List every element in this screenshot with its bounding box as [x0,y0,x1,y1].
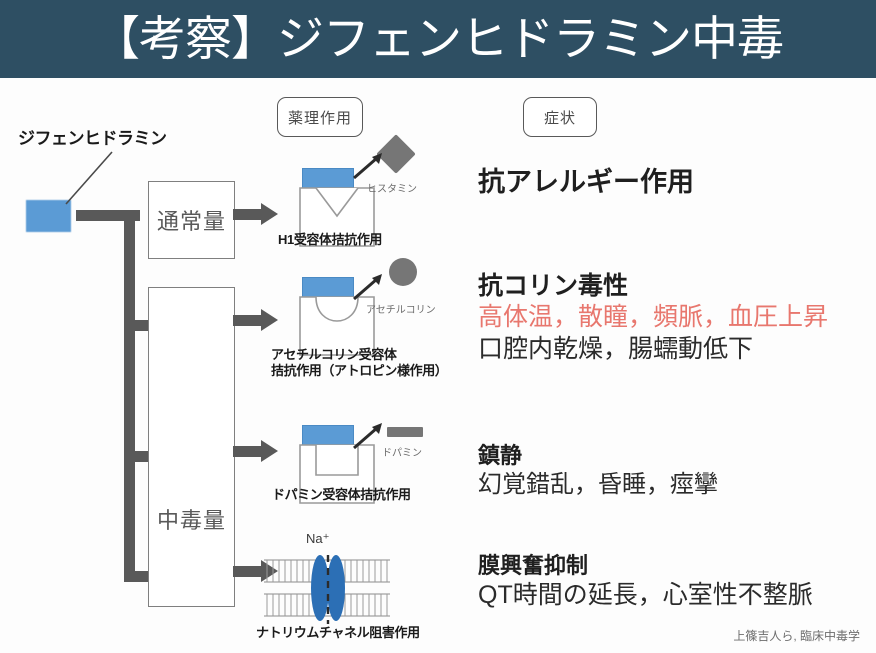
symptom-line-anticholinergic-1: 高体温，散瞳，頻脈，血圧上昇 [478,301,828,333]
release-arrow-histamine [352,152,384,180]
dopamine-receptor-caption: ドパミン受容体拮抗作用 [272,487,411,503]
release-arrow-acetylcholine [352,273,384,301]
arrow-to-ach-receptor [233,309,280,332]
dose-box-normal-label: 通常量 [157,204,226,236]
symptom-block-anticholinergic: 抗コリン毒性 高体温，散瞳，頻脈，血圧上昇 口腔内乾燥，腸蠕動低下 [478,272,828,365]
sodium-channel-glyph [262,552,392,629]
slide-header: 【考察】ジフェンヒドラミン中毒 [0,0,876,78]
dose-box-toxic: 中毒量 [148,287,235,607]
release-arrow-dopamine [352,422,384,450]
symptom-heading-anticholinergic: 抗コリン毒性 [478,272,828,301]
lipid-bilayer-icon [262,552,392,624]
dopamine-molecule-icon [387,427,423,437]
histamine-label: ヒスタミン [367,180,417,195]
acetylcholine-label: アセチルコリン [366,301,436,316]
citation-text: 上篠吉人ら, 臨床中毒学 [733,627,860,644]
drug-source-label: ジフェンヒドラミン [18,124,167,149]
column-header-symptoms: 症状 [523,97,597,137]
symptom-line-anticholinergic-2: 口腔内乾燥，腸蠕動低下 [478,333,828,365]
column-header-pharmacology: 薬理作用 [277,97,363,137]
symptom-block-antiallergy: 抗アレルギー作用 [478,160,694,199]
acetylcholine-molecule-icon [389,258,417,286]
acetylcholine-caption-line2: 拮抗作用（アトロピン様作用） [271,363,447,379]
sodium-ion-label: Na⁺ [306,531,329,547]
symptom-heading-membrane: 膜興奮抑制 [478,553,813,579]
arrow-to-h1-receptor [233,203,280,226]
symptom-heading-antiallergy: 抗アレルギー作用 [478,160,694,199]
symptom-line-sedation-1: 幻覚錯乱，昏睡，痙攣 [478,469,718,500]
acetylcholine-caption-line1: アセチルコリン受容体 [271,347,447,363]
symptom-heading-sedation: 鎮静 [478,443,718,469]
dose-box-normal: 通常量 [148,181,235,259]
symptom-line-membrane-1: QT時間の延長，心室性不整脈 [478,579,813,612]
sodium-channel-caption: ナトリウムチャネル阻害作用 [256,625,420,641]
dose-box-toxic-label: 中毒量 [157,503,226,535]
slide-canvas: 【考察】ジフェンヒドラミン中毒 薬理作用 症状 ジフェンヒドラミン 通常量 中毒… [0,0,876,653]
h1-receptor-caption: H1受容体拮抗作用 [278,232,382,248]
arrow-to-dopamine-receptor [233,440,280,463]
connector-trunk-vertical [124,210,135,582]
page-title: 【考察】ジフェンヒドラミン中毒 [93,15,783,62]
dopamine-label: ドパミン [382,444,422,459]
symptom-block-membrane: 膜興奮抑制 QT時間の延長，心室性不整脈 [478,553,813,612]
acetylcholine-receptor-caption: アセチルコリン受容体 拮抗作用（アトロピン様作用） [271,347,447,380]
leader-line [62,150,114,206]
symptom-block-sedation: 鎮静 幻覚錯乱，昏睡，痙攣 [478,443,718,501]
